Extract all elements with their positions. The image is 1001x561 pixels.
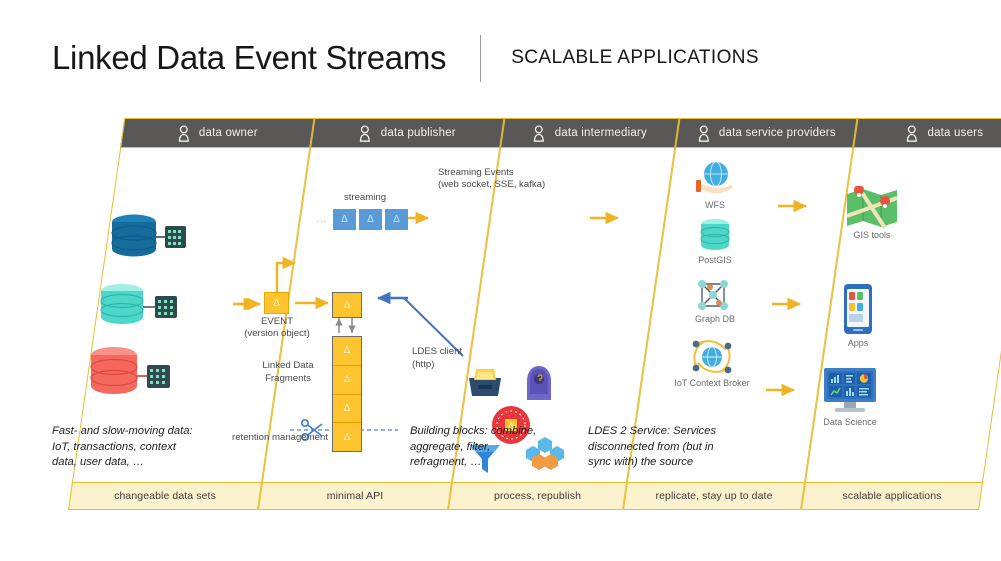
panel-header-data-users: data users (853, 118, 1001, 148)
footer-label: minimal API (327, 490, 384, 502)
pipeline-diagram: data owner changeable data sets data pub… (0, 118, 1001, 518)
footer-label: process, republish (494, 490, 581, 502)
footer-label: scalable applications (843, 490, 942, 502)
person-icon (533, 125, 546, 142)
panel-footer-data-service-providers: replicate, stay up to date (623, 482, 805, 510)
panel-footer-data-owner: changeable data sets (68, 482, 262, 510)
footer-label: changeable data sets (114, 490, 216, 502)
page-header: Linked Data Event Streams SCALABLE APPLI… (52, 28, 812, 88)
person-icon (697, 125, 710, 142)
person-icon (177, 125, 190, 142)
footer-label: replicate, stay up to date (656, 490, 773, 502)
panel-footer-data-intermediary: process, republish (448, 482, 627, 510)
panel-header-data-service-providers: data service providers (675, 118, 857, 148)
panel-header-data-owner: data owner (120, 118, 314, 148)
panel-header-data-publisher: data publisher (310, 118, 504, 148)
page-subtitle: SCALABLE APPLICATIONS (511, 47, 759, 69)
panel-footer-data-users: scalable applications (801, 482, 983, 510)
page-title: Linked Data Event Streams (52, 39, 446, 77)
role-label: data publisher (381, 127, 456, 139)
panel-header-data-intermediary: data intermediary (500, 118, 679, 148)
role-label: data intermediary (555, 127, 647, 139)
role-label: data owner (199, 127, 258, 139)
role-label: data users (927, 127, 983, 139)
title-divider (480, 35, 481, 82)
panel-footer-data-publisher: minimal API (258, 482, 452, 510)
person-icon (905, 125, 918, 142)
person-icon (359, 125, 372, 142)
role-label: data service providers (719, 127, 836, 139)
